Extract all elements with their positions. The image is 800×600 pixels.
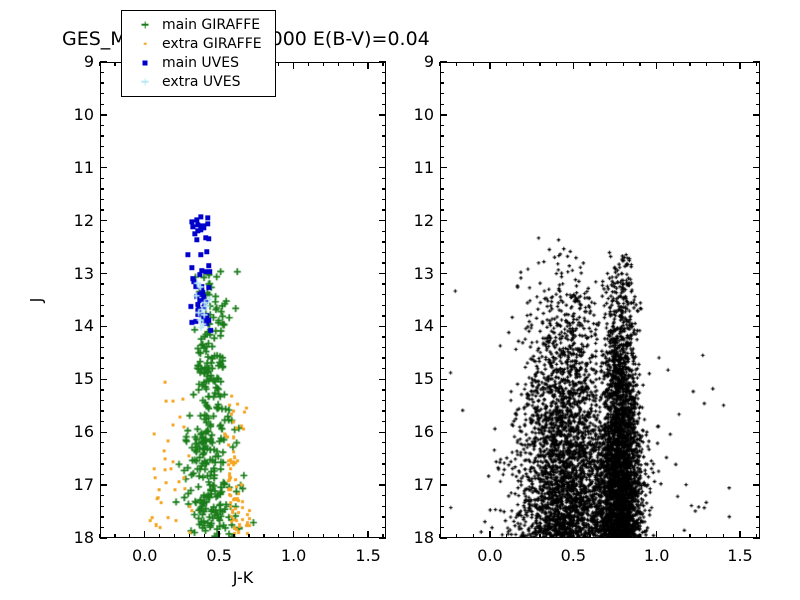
y-ticklabel: 17	[54, 477, 94, 493]
tick-mark	[100, 220, 107, 221]
tick-mark-minor	[756, 188, 760, 189]
tick-mark-minor	[440, 305, 444, 306]
tick-mark-minor	[382, 62, 383, 66]
tick-mark-minor	[756, 474, 760, 475]
tick-mark-minor	[100, 463, 104, 464]
tick-mark-minor	[382, 453, 386, 454]
tick-mark-minor	[189, 534, 190, 538]
tick-mark-minor	[382, 283, 386, 284]
tick-mark	[379, 326, 386, 327]
tick-mark-minor	[382, 357, 386, 358]
tick-mark	[379, 114, 386, 115]
x-ticklabel: 0.0	[132, 548, 157, 564]
x-ticklabel: 1.5	[355, 548, 380, 564]
tick-mark	[753, 273, 760, 274]
y-ticklabel: 16	[394, 424, 434, 440]
tick-mark	[440, 167, 447, 168]
tick-mark-minor	[756, 72, 760, 73]
tick-mark-minor	[382, 188, 386, 189]
tick-mark-minor	[639, 534, 640, 538]
tick-mark-minor	[623, 534, 624, 538]
tick-mark-minor	[689, 534, 690, 538]
tick-mark-minor	[439, 62, 440, 66]
right-plot-panel	[440, 62, 760, 538]
tick-mark-minor	[100, 389, 104, 390]
tick-mark	[753, 326, 760, 327]
tick-mark-minor	[440, 410, 444, 411]
tick-mark-minor	[382, 442, 386, 443]
tick-mark	[573, 531, 574, 538]
tick-mark-minor	[440, 368, 444, 369]
tick-mark-minor	[100, 357, 104, 358]
legend-label-main-giraffe: main GIRAFFE	[162, 17, 260, 33]
tick-mark-minor	[756, 146, 760, 147]
tick-mark-minor	[100, 506, 104, 507]
tick-mark-minor	[756, 82, 760, 83]
tick-mark-minor	[473, 62, 474, 66]
tick-mark	[440, 61, 447, 62]
tick-mark-minor	[100, 347, 104, 348]
y-ticklabel: 10	[54, 107, 94, 123]
tick-mark-minor	[756, 209, 760, 210]
legend-item[interactable]: extra UVES	[128, 72, 269, 91]
tick-mark-minor	[100, 135, 104, 136]
tick-mark	[100, 484, 107, 485]
tick-mark-minor	[440, 442, 444, 443]
tick-mark-minor	[756, 294, 760, 295]
tick-mark-minor	[756, 516, 760, 517]
tick-mark-minor	[100, 252, 104, 253]
tick-mark-minor	[439, 534, 440, 538]
tick-mark	[100, 432, 107, 433]
tick-mark-minor	[539, 534, 540, 538]
tick-mark-minor	[308, 534, 309, 538]
tick-mark-minor	[382, 410, 386, 411]
tick-mark	[100, 167, 107, 168]
tick-mark-minor	[440, 347, 444, 348]
tick-mark-minor	[589, 62, 590, 66]
tick-mark	[293, 531, 294, 538]
tick-mark-minor	[382, 336, 386, 337]
tick-mark-minor	[756, 157, 760, 158]
tick-mark-minor	[382, 199, 386, 200]
tick-mark-minor	[440, 463, 444, 464]
tick-mark-minor	[100, 199, 104, 200]
tick-mark	[440, 220, 447, 221]
tick-mark-minor	[440, 178, 444, 179]
tick-mark-minor	[756, 527, 760, 528]
tick-mark-minor	[440, 125, 444, 126]
y-ticklabel: 12	[394, 213, 434, 229]
tick-mark-minor	[756, 241, 760, 242]
legend-label-extra-giraffe: extra GIRAFFE	[162, 36, 262, 52]
tick-mark	[656, 62, 657, 69]
tick-mark	[753, 220, 760, 221]
y-ticklabel: 11	[394, 160, 434, 176]
tick-mark-minor	[440, 93, 444, 94]
tick-mark-minor	[440, 135, 444, 136]
tick-mark-minor	[689, 62, 690, 66]
tick-mark-minor	[100, 294, 104, 295]
tick-mark	[218, 531, 219, 538]
tick-mark-minor	[440, 146, 444, 147]
tick-mark	[379, 273, 386, 274]
tick-mark-minor	[382, 495, 386, 496]
tick-mark-minor	[100, 410, 104, 411]
y-ticklabel: 15	[394, 371, 434, 387]
y-ticklabel: 9	[394, 54, 434, 70]
tick-mark-minor	[440, 199, 444, 200]
tick-mark-minor	[623, 62, 624, 66]
tick-mark-minor	[440, 104, 444, 105]
tick-mark-minor	[556, 534, 557, 538]
tick-mark-minor	[100, 72, 104, 73]
tick-mark	[379, 220, 386, 221]
x-ticklabel: 1.0	[281, 548, 306, 564]
tick-mark-minor	[100, 125, 104, 126]
tick-mark-minor	[99, 62, 100, 66]
tick-mark-minor	[100, 336, 104, 337]
tick-mark-minor	[589, 534, 590, 538]
tick-mark-minor	[382, 72, 386, 73]
tick-mark-minor	[382, 82, 386, 83]
tick-mark-minor	[756, 463, 760, 464]
x-ticklabel: 0.0	[477, 548, 502, 564]
tick-mark-minor	[506, 534, 507, 538]
tick-mark-minor	[523, 534, 524, 538]
legend-marker-extra-giraffe	[128, 34, 162, 53]
tick-mark-minor	[440, 294, 444, 295]
tick-mark-minor	[382, 516, 386, 517]
tick-mark-minor	[382, 474, 386, 475]
tick-mark-minor	[756, 62, 757, 66]
tick-mark-minor	[99, 534, 100, 538]
tick-mark-minor	[100, 209, 104, 210]
tick-mark	[656, 531, 657, 538]
tick-mark-minor	[756, 389, 760, 390]
tick-mark-minor	[100, 231, 104, 232]
tick-mark-minor	[440, 188, 444, 189]
tick-mark-minor	[233, 534, 234, 538]
tick-mark-minor	[756, 231, 760, 232]
tick-mark	[440, 484, 447, 485]
tick-mark-minor	[129, 534, 130, 538]
tick-mark-minor	[100, 516, 104, 517]
tick-mark-minor	[114, 534, 115, 538]
tick-mark-minor	[100, 104, 104, 105]
tick-mark	[440, 379, 447, 380]
legend-item[interactable]: main GIRAFFE	[128, 15, 269, 34]
tick-mark-minor	[756, 135, 760, 136]
tick-mark-minor	[100, 262, 104, 263]
x-ticklabel: 0.5	[561, 548, 586, 564]
y-ticklabel: 12	[54, 213, 94, 229]
tick-mark	[753, 379, 760, 380]
tick-mark	[379, 379, 386, 380]
tick-mark	[379, 167, 386, 168]
tick-mark-minor	[723, 62, 724, 66]
tick-mark-minor	[338, 534, 339, 538]
right-scatter-canvas	[441, 63, 759, 537]
tick-mark-minor	[606, 534, 607, 538]
left-scatter-canvas	[101, 63, 385, 537]
tick-mark	[573, 62, 574, 69]
tick-mark-minor	[440, 527, 444, 528]
legend-label-main-uves: main UVES	[162, 55, 239, 71]
tick-mark-minor	[100, 495, 104, 496]
tick-mark-minor	[756, 453, 760, 454]
tick-mark-minor	[338, 62, 339, 66]
tick-mark	[293, 62, 294, 69]
tick-mark-minor	[756, 421, 760, 422]
tick-mark-minor	[456, 534, 457, 538]
tick-mark	[367, 531, 368, 538]
tick-mark-minor	[756, 315, 760, 316]
tick-mark-minor	[539, 62, 540, 66]
tick-mark-minor	[323, 534, 324, 538]
tick-mark-minor	[440, 389, 444, 390]
tick-mark-minor	[440, 72, 444, 73]
tick-mark-minor	[756, 104, 760, 105]
tick-mark	[100, 537, 107, 538]
tick-mark-minor	[440, 400, 444, 401]
y-ticklabel: 17	[394, 477, 434, 493]
tick-mark	[739, 531, 740, 538]
y-ticklabel: 9	[54, 54, 94, 70]
tick-mark-minor	[114, 62, 115, 66]
tick-mark-minor	[100, 241, 104, 242]
tick-mark-minor	[204, 534, 205, 538]
tick-mark-minor	[756, 252, 760, 253]
tick-mark-minor	[100, 178, 104, 179]
tick-mark-minor	[606, 62, 607, 66]
tick-mark-minor	[382, 231, 386, 232]
tick-mark	[100, 273, 107, 274]
tick-mark-minor	[440, 357, 444, 358]
tick-mark	[144, 531, 145, 538]
tick-mark-minor	[100, 474, 104, 475]
tick-mark-minor	[756, 305, 760, 306]
tick-mark-minor	[382, 315, 386, 316]
tick-mark-minor	[100, 453, 104, 454]
tick-mark-minor	[440, 506, 444, 507]
tick-mark-minor	[440, 453, 444, 454]
tick-mark-minor	[756, 347, 760, 348]
tick-mark	[440, 273, 447, 274]
tick-mark-minor	[756, 283, 760, 284]
tick-mark-minor	[382, 146, 386, 147]
y-ticklabel: 11	[54, 160, 94, 176]
tick-mark-minor	[456, 62, 457, 66]
tick-mark	[739, 62, 740, 69]
y-ticklabel: 15	[54, 371, 94, 387]
tick-mark-minor	[382, 104, 386, 105]
tick-mark	[367, 62, 368, 69]
tick-mark-minor	[723, 534, 724, 538]
tick-mark-minor	[756, 262, 760, 263]
tick-mark-minor	[440, 495, 444, 496]
y-ticklabel: 16	[54, 424, 94, 440]
tick-mark	[753, 167, 760, 168]
tick-mark-minor	[382, 400, 386, 401]
tick-mark-minor	[100, 421, 104, 422]
tick-mark-minor	[440, 252, 444, 253]
tick-mark-minor	[440, 209, 444, 210]
tick-mark-minor	[100, 400, 104, 401]
tick-mark-minor	[100, 188, 104, 189]
tick-mark-minor	[100, 442, 104, 443]
y-ticklabel: 14	[394, 318, 434, 334]
tick-mark-minor	[100, 315, 104, 316]
tick-mark-minor	[382, 506, 386, 507]
tick-mark-minor	[382, 209, 386, 210]
tick-mark-minor	[440, 336, 444, 337]
tick-mark-minor	[353, 534, 354, 538]
legend-label-extra-uves: extra UVES	[162, 74, 240, 90]
tick-mark	[489, 62, 490, 69]
tick-mark-minor	[440, 241, 444, 242]
tick-mark-minor	[382, 368, 386, 369]
left-x-axis-label: J-K	[233, 568, 253, 587]
tick-mark-minor	[440, 157, 444, 158]
tick-mark-minor	[756, 368, 760, 369]
tick-mark-minor	[248, 534, 249, 538]
tick-mark-minor	[100, 93, 104, 94]
tick-mark	[100, 379, 107, 380]
tick-mark-minor	[756, 506, 760, 507]
tick-mark-minor	[756, 357, 760, 358]
x-ticklabel: 0.5	[206, 548, 231, 564]
tick-mark	[379, 432, 386, 433]
tick-mark-minor	[440, 421, 444, 422]
tick-mark	[100, 326, 107, 327]
legend-marker-main-uves	[128, 53, 162, 72]
tick-mark-minor	[756, 495, 760, 496]
legend-box: main GIRAFFE extra GIRAFFE main UVES ext…	[121, 10, 276, 97]
tick-mark-minor	[278, 534, 279, 538]
tick-mark-minor	[506, 62, 507, 66]
tick-mark-minor	[278, 62, 279, 66]
tick-mark	[440, 432, 447, 433]
tick-mark-minor	[100, 157, 104, 158]
tick-mark-minor	[673, 62, 674, 66]
y-ticklabel: 14	[54, 318, 94, 334]
legend-marker-main-giraffe	[128, 15, 162, 34]
tick-mark-minor	[756, 93, 760, 94]
tick-mark-minor	[100, 368, 104, 369]
tick-mark-minor	[174, 534, 175, 538]
tick-mark-minor	[382, 178, 386, 179]
y-ticklabel: 18	[54, 530, 94, 546]
tick-mark-minor	[382, 135, 386, 136]
tick-mark-minor	[382, 252, 386, 253]
tick-mark-minor	[382, 157, 386, 158]
tick-mark-minor	[382, 421, 386, 422]
y-ticklabel: 18	[394, 530, 434, 546]
tick-mark-minor	[159, 534, 160, 538]
tick-mark-minor	[756, 400, 760, 401]
tick-mark-minor	[706, 534, 707, 538]
legend-item[interactable]: main UVES	[128, 53, 269, 72]
tick-mark	[489, 531, 490, 538]
tick-mark-minor	[756, 178, 760, 179]
tick-mark	[753, 432, 760, 433]
tick-mark-minor	[523, 62, 524, 66]
tick-mark-minor	[382, 294, 386, 295]
tick-mark-minor	[382, 305, 386, 306]
y-ticklabel: 13	[54, 266, 94, 282]
tick-mark-minor	[756, 336, 760, 337]
tick-mark	[379, 484, 386, 485]
tick-mark	[440, 326, 447, 327]
tick-mark	[440, 537, 447, 538]
legend-marker-extra-uves	[128, 72, 162, 91]
tick-mark	[100, 114, 107, 115]
tick-mark-minor	[353, 62, 354, 66]
tick-mark-minor	[382, 463, 386, 464]
left-y-axis-label: J	[27, 298, 46, 303]
x-ticklabel: 1.0	[644, 548, 669, 564]
tick-mark-minor	[440, 82, 444, 83]
tick-mark-minor	[263, 534, 264, 538]
tick-mark-minor	[756, 442, 760, 443]
tick-mark-minor	[100, 527, 104, 528]
figure-canvas: GES_MW_214000-650000 E(B-V)=0.04 9101112…	[0, 0, 800, 600]
tick-mark-minor	[756, 410, 760, 411]
tick-mark-minor	[100, 305, 104, 306]
tick-mark-minor	[756, 199, 760, 200]
tick-mark-minor	[382, 241, 386, 242]
tick-mark-minor	[323, 62, 324, 66]
y-ticklabel: 13	[394, 266, 434, 282]
tick-mark-minor	[382, 527, 386, 528]
tick-mark-minor	[382, 93, 386, 94]
tick-mark-minor	[556, 62, 557, 66]
tick-mark-minor	[639, 62, 640, 66]
tick-mark-minor	[382, 125, 386, 126]
tick-mark	[753, 114, 760, 115]
tick-mark-minor	[706, 62, 707, 66]
left-plot-panel	[100, 62, 386, 538]
tick-mark-minor	[382, 262, 386, 263]
tick-mark-minor	[756, 534, 757, 538]
tick-mark-minor	[382, 389, 386, 390]
tick-mark-minor	[756, 125, 760, 126]
tick-mark-minor	[440, 315, 444, 316]
legend-item[interactable]: extra GIRAFFE	[128, 34, 269, 53]
tick-mark-minor	[382, 534, 383, 538]
tick-mark-minor	[440, 516, 444, 517]
tick-mark-minor	[440, 231, 444, 232]
tick-mark-minor	[308, 62, 309, 66]
tick-mark-minor	[673, 534, 674, 538]
tick-mark	[100, 61, 107, 62]
tick-mark-minor	[473, 534, 474, 538]
tick-mark-minor	[100, 146, 104, 147]
tick-mark-minor	[100, 283, 104, 284]
tick-mark	[753, 484, 760, 485]
tick-mark-minor	[440, 262, 444, 263]
tick-mark-minor	[440, 283, 444, 284]
x-ticklabel: 1.5	[727, 548, 752, 564]
tick-mark-minor	[440, 474, 444, 475]
tick-mark-minor	[100, 82, 104, 83]
tick-mark	[440, 114, 447, 115]
tick-mark-minor	[382, 347, 386, 348]
y-ticklabel: 10	[394, 107, 434, 123]
